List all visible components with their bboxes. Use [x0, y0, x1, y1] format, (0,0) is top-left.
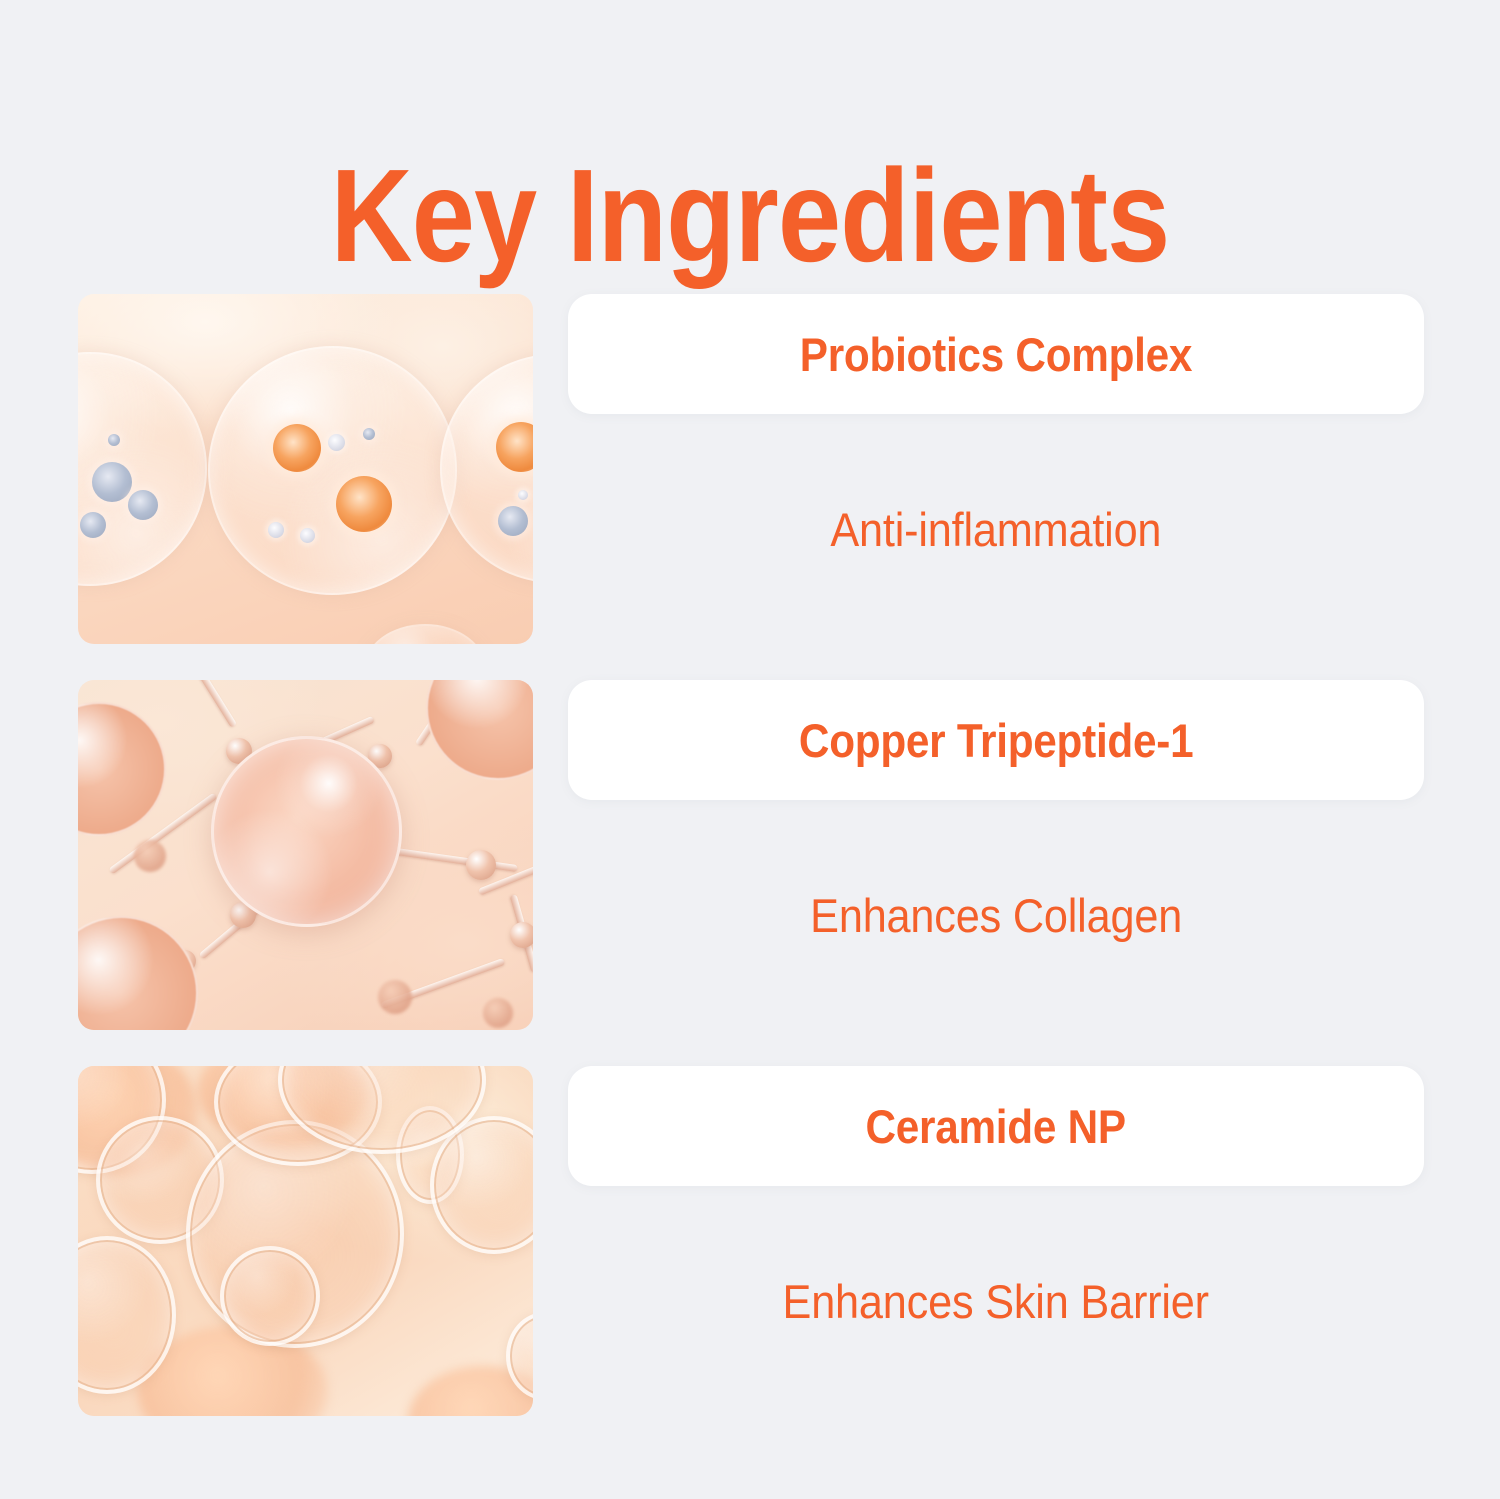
- oil-bubble-rings-image: [78, 1066, 533, 1416]
- ingredient-benefit: Enhances Skin Barrier: [568, 1186, 1424, 1416]
- ingredient-name-card[interactable]: Ceramide NP: [568, 1066, 1424, 1186]
- ingredient-text-column: Probiotics Complex Anti-inflammation: [568, 294, 1424, 644]
- probiotic-bubbles-image: [78, 294, 533, 644]
- ingredient-name-card[interactable]: Probiotics Complex: [568, 294, 1424, 414]
- page-title: Key Ingredients: [105, 150, 1395, 282]
- ingredient-text-column: Copper Tripeptide-1 Enhances Collagen: [568, 680, 1424, 1030]
- molecule-sphere-image: [78, 680, 533, 1030]
- ingredient-benefit-text: Enhances Skin Barrier: [783, 1274, 1209, 1329]
- ingredient-row: Ceramide NP Enhances Skin Barrier: [0, 1066, 1500, 1416]
- ingredient-row: Copper Tripeptide-1 Enhances Collagen: [0, 680, 1500, 1030]
- ingredient-name: Copper Tripeptide-1: [799, 717, 1193, 764]
- ingredient-name-card[interactable]: Copper Tripeptide-1: [568, 680, 1424, 800]
- ingredient-benefit-text: Anti-inflammation: [831, 502, 1162, 557]
- ingredient-text-column: Ceramide NP Enhances Skin Barrier: [568, 1066, 1424, 1416]
- ingredient-benefit: Anti-inflammation: [568, 414, 1424, 644]
- ingredient-name: Probiotics Complex: [800, 331, 1192, 378]
- ingredient-row: Probiotics Complex Anti-inflammation: [0, 294, 1500, 644]
- ingredient-benefit-text: Enhances Collagen: [810, 888, 1182, 943]
- ingredient-list: Probiotics Complex Anti-inflammation: [0, 294, 1500, 1452]
- ingredient-name: Ceramide NP: [866, 1103, 1126, 1150]
- ingredient-benefit: Enhances Collagen: [568, 800, 1424, 1030]
